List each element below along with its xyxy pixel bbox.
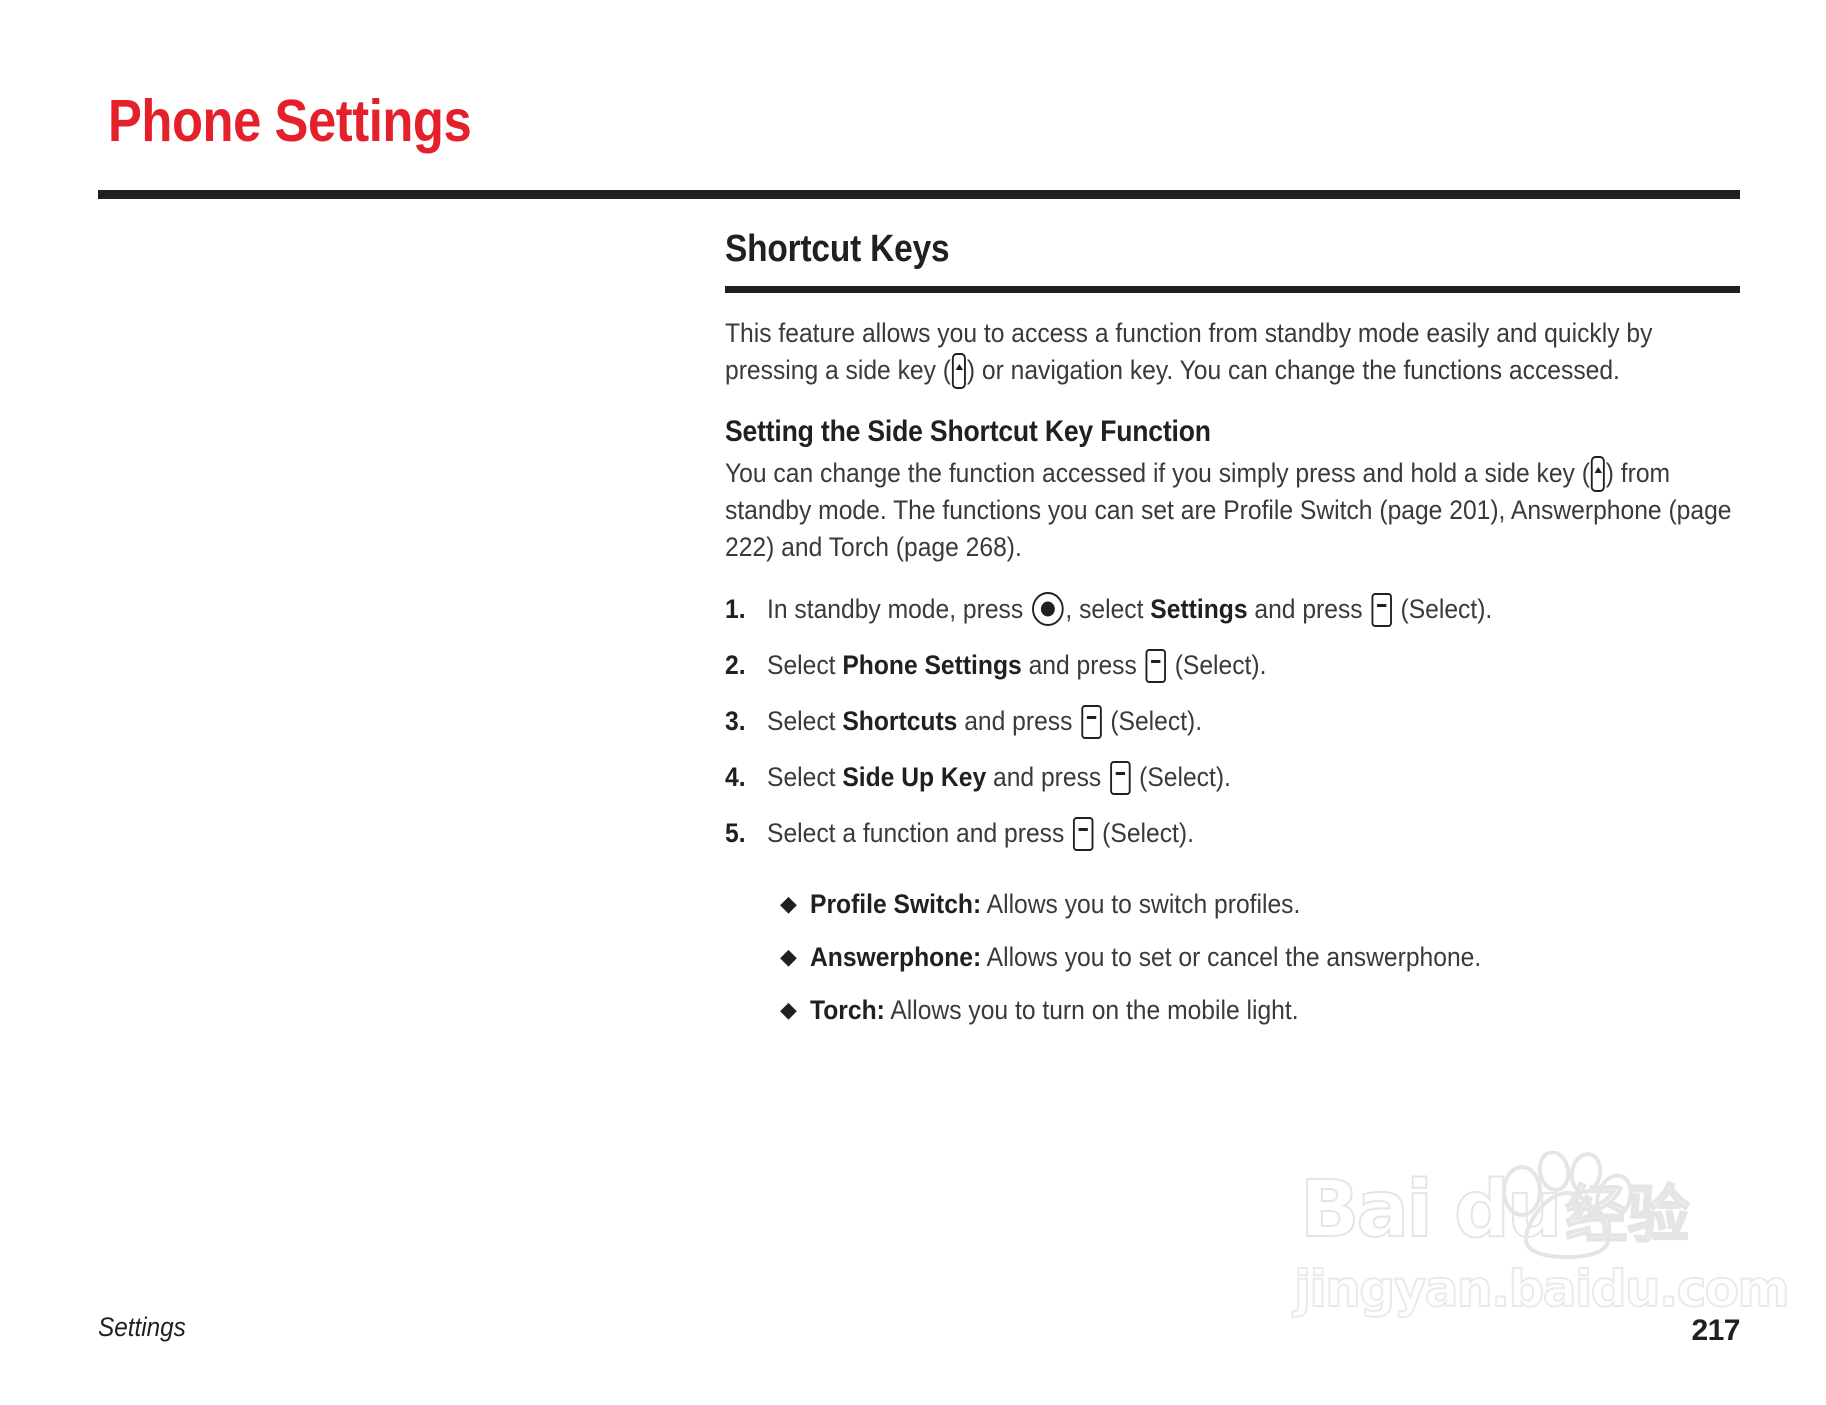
- soft-key-icon: [1073, 817, 1093, 851]
- step-bold-term: Shortcuts: [842, 706, 957, 736]
- diamond-bullet-icon: ◆: [780, 940, 810, 974]
- step-text: Select Side Up Key and press (Select).: [767, 760, 1231, 795]
- baidu-watermark: Bai du 经验 jingyan.baidu.com: [1300, 1165, 1730, 1340]
- soft-key-icon: [1146, 649, 1166, 683]
- list-item: 5. Select a function and press (Select).: [725, 816, 1740, 851]
- bullet-description: Allows you to turn on the mobile light.: [885, 995, 1299, 1025]
- step-bold-term: Side Up Key: [842, 762, 986, 792]
- page-title: Phone Settings: [108, 92, 471, 151]
- center-key-icon: [1032, 592, 1064, 626]
- numbered-steps-list: 1. In standby mode, press , select Setti…: [725, 592, 1740, 851]
- list-item: 2. Select Phone Settings and press (Sele…: [725, 648, 1740, 683]
- list-item: ◆ Torch: Allows you to turn on the mobil…: [780, 993, 1740, 1027]
- step-bold-term: Settings: [1150, 594, 1247, 624]
- diamond-bullet-icon: ◆: [780, 887, 810, 921]
- section-heading: Shortcut Keys: [725, 230, 1618, 270]
- step-text: Select Phone Settings and press (Select)…: [767, 648, 1266, 683]
- step-text: Select a function and press (Select).: [767, 816, 1194, 851]
- step-number: 3.: [725, 704, 764, 738]
- subsection-heading: Setting the Side Shortcut Key Function: [725, 415, 1639, 449]
- step-text-segment: Select: [767, 706, 842, 736]
- watermark-brand-text: Bai du: [1300, 1175, 1559, 1245]
- bullet-term: Profile Switch:: [810, 889, 981, 919]
- list-item: ◆ Answerphone: Allows you to set or canc…: [780, 940, 1740, 974]
- watermark-brand-cn-text: 经验: [1565, 1186, 1689, 1245]
- step-number: 2.: [725, 648, 764, 682]
- subsection-paragraph-text-1: You can change the function accessed if …: [725, 458, 1590, 488]
- step-text-segment: (Select).: [1168, 650, 1267, 680]
- content-column: Shortcut Keys This feature allows you to…: [725, 230, 1740, 1046]
- step-text-segment: Select a function and press: [767, 818, 1071, 848]
- step-text-segment: Select: [767, 762, 842, 792]
- header-divider: [98, 190, 1740, 199]
- step-text-segment: (Select).: [1103, 706, 1202, 736]
- step-text-segment: and press: [957, 706, 1079, 736]
- step-number: 4.: [725, 760, 764, 794]
- step-bold-term: Phone Settings: [842, 650, 1021, 680]
- paw-print-icon: [1492, 1151, 1632, 1261]
- step-text-segment: (Select).: [1394, 594, 1493, 624]
- list-item: 1. In standby mode, press , select Setti…: [725, 592, 1740, 627]
- list-item: 3. Select Shortcuts and press (Select).: [725, 704, 1740, 739]
- bullet-term: Answerphone:: [810, 942, 981, 972]
- bullet-description: Allows you to switch profiles.: [981, 889, 1300, 919]
- step-text-segment: (Select).: [1132, 762, 1231, 792]
- step-number: 1.: [725, 592, 764, 626]
- list-item: 4. Select Side Up Key and press (Select)…: [725, 760, 1740, 795]
- intro-paragraph: This feature allows you to access a func…: [725, 315, 1741, 389]
- step-text: Select Shortcuts and press (Select).: [767, 704, 1202, 739]
- bullet-text: Answerphone: Allows you to set or cancel…: [810, 940, 1481, 974]
- bullet-description: Allows you to set or cancel the answerph…: [981, 942, 1481, 972]
- step-text-segment: and press: [1022, 650, 1144, 680]
- side-key-icon: [1591, 456, 1605, 492]
- subsection-paragraph: You can change the function accessed if …: [725, 455, 1741, 566]
- diamond-bullet-icon: ◆: [780, 993, 810, 1027]
- manual-page: Phone Settings Shortcut Keys This featur…: [0, 0, 1826, 1405]
- page-number: 217: [1691, 1314, 1740, 1348]
- watermark-url-text: jingyan.baidu.com: [1294, 1260, 1788, 1318]
- step-text: In standby mode, press , select Settings…: [767, 592, 1492, 627]
- bullet-text: Profile Switch: Allows you to switch pro…: [810, 887, 1300, 921]
- step-text-segment: Select: [767, 650, 842, 680]
- bullet-term: Torch:: [810, 995, 885, 1025]
- step-number: 5.: [725, 816, 764, 850]
- section-divider: [725, 286, 1740, 293]
- step-text-segment: , select: [1065, 594, 1150, 624]
- soft-key-icon: [1371, 593, 1391, 627]
- side-key-icon: [952, 353, 966, 389]
- step-text-segment: In standby mode, press: [767, 594, 1030, 624]
- step-text-segment: (Select).: [1095, 818, 1194, 848]
- watermark-brand-row: Bai du 经验: [1300, 1175, 1689, 1245]
- list-item: ◆ Profile Switch: Allows you to switch p…: [780, 887, 1740, 921]
- step-text-segment: and press: [1248, 594, 1370, 624]
- running-head: Settings: [98, 1312, 186, 1343]
- bullet-list: ◆ Profile Switch: Allows you to switch p…: [780, 887, 1740, 1027]
- soft-key-icon: [1081, 705, 1101, 739]
- step-text-segment: and press: [986, 762, 1108, 792]
- bullet-text: Torch: Allows you to turn on the mobile …: [810, 993, 1299, 1027]
- soft-key-icon: [1110, 761, 1130, 795]
- intro-paragraph-text-2: ) or navigation key. You can change the …: [967, 355, 1620, 385]
